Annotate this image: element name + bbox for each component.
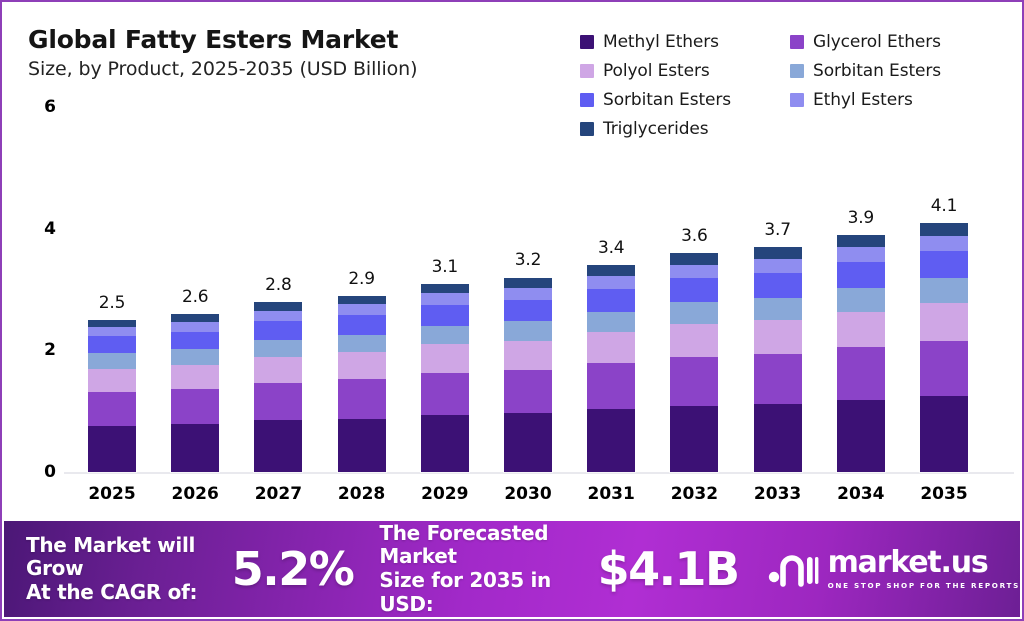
- bar-segment[interactable]: [171, 424, 219, 472]
- bar-group[interactable]: 2.62026: [171, 2, 219, 472]
- bar-segment[interactable]: [837, 235, 885, 247]
- bar-segment[interactable]: [754, 259, 802, 272]
- stacked-bar[interactable]: [754, 247, 802, 472]
- bar-segment[interactable]: [88, 336, 136, 353]
- bar-segment[interactable]: [421, 293, 469, 305]
- bar-segment[interactable]: [837, 347, 885, 400]
- bar-segment[interactable]: [421, 415, 469, 472]
- y-axis-tick-label: 2: [24, 340, 56, 360]
- stacked-bar[interactable]: [670, 253, 718, 472]
- bar-segment[interactable]: [254, 357, 302, 383]
- bar-segment[interactable]: [837, 288, 885, 312]
- y-axis-tick-label: 4: [24, 219, 56, 239]
- bar-container: 2.520252.620262.820272.920283.120293.220…: [88, 2, 1024, 522]
- bar-segment[interactable]: [587, 332, 635, 363]
- bar-group[interactable]: 2.52025: [88, 2, 136, 472]
- chart-plot-area: 0246 2.520252.620262.820272.920283.12029…: [2, 2, 1024, 522]
- bar-segment[interactable]: [421, 284, 469, 294]
- bar-segment[interactable]: [504, 370, 552, 413]
- forecast-caption-line2: Size for 2035 in USD:: [379, 569, 593, 616]
- stacked-bar[interactable]: [837, 235, 885, 472]
- cagr-caption-line2: At the CAGR of:: [26, 581, 226, 605]
- x-axis-tick-label: 2035: [904, 484, 984, 504]
- bar-group[interactable]: 2.82027: [254, 2, 302, 472]
- bar-segment[interactable]: [338, 352, 386, 379]
- bar-segment[interactable]: [754, 247, 802, 259]
- bar-segment[interactable]: [338, 296, 386, 305]
- bar-segment[interactable]: [504, 300, 552, 321]
- bar-segment[interactable]: [920, 251, 968, 278]
- y-axis-tick-label: 6: [24, 97, 56, 117]
- market-us-logo: market.us ONE STOP SHOP FOR THE REPORTS: [767, 548, 1020, 590]
- bar-segment[interactable]: [754, 354, 802, 404]
- cagr-value: 5.2%: [232, 542, 354, 596]
- bar-value-label: 3.1: [405, 257, 485, 277]
- bar-value-label: 3.7: [738, 220, 818, 240]
- bar-segment[interactable]: [837, 312, 885, 348]
- bar-value-label: 3.4: [571, 238, 651, 258]
- bar-segment[interactable]: [587, 312, 635, 333]
- bar-value-label: 2.8: [238, 275, 318, 295]
- bar-group[interactable]: 3.62032: [670, 2, 718, 472]
- bar-segment[interactable]: [504, 288, 552, 300]
- bar-segment[interactable]: [504, 278, 552, 289]
- x-axis-tick-label: 2027: [238, 484, 318, 504]
- y-axis-tick-label: 0: [24, 462, 56, 482]
- bar-segment[interactable]: [421, 326, 469, 345]
- bar-segment[interactable]: [338, 419, 386, 473]
- bar-segment[interactable]: [587, 265, 635, 276]
- forecast-value: $4.1B: [598, 542, 739, 596]
- forecast-caption-line1: The Forecasted Market: [379, 522, 593, 569]
- bar-segment[interactable]: [504, 341, 552, 370]
- bar-segment[interactable]: [920, 223, 968, 236]
- bar-value-label: 2.9: [322, 269, 402, 289]
- bar-group[interactable]: 3.72033: [754, 2, 802, 472]
- bar-segment[interactable]: [920, 396, 968, 472]
- bar-segment[interactable]: [754, 298, 802, 320]
- x-axis-tick-label: 2033: [738, 484, 818, 504]
- market-us-logo-text: market.us ONE STOP SHOP FOR THE REPORTS: [828, 548, 1020, 590]
- stacked-bar[interactable]: [338, 296, 386, 472]
- bar-segment[interactable]: [338, 335, 386, 353]
- bar-segment[interactable]: [254, 383, 302, 421]
- bar-segment[interactable]: [254, 311, 302, 321]
- bar-segment[interactable]: [88, 369, 136, 392]
- bar-segment[interactable]: [587, 289, 635, 311]
- bar-segment[interactable]: [670, 265, 718, 278]
- bar-segment[interactable]: [171, 389, 219, 424]
- infographic-frame: Global Fatty Esters Market Size, by Prod…: [0, 0, 1024, 621]
- bar-segment[interactable]: [670, 357, 718, 406]
- bar-segment[interactable]: [421, 344, 469, 373]
- stacked-bar[interactable]: [171, 314, 219, 472]
- bar-segment[interactable]: [88, 353, 136, 368]
- bar-segment[interactable]: [837, 247, 885, 262]
- bar-group[interactable]: 4.12035: [920, 2, 968, 472]
- bar-segment[interactable]: [670, 324, 718, 357]
- bar-segment[interactable]: [338, 304, 386, 315]
- bar-segment[interactable]: [171, 314, 219, 322]
- stacked-bar[interactable]: [421, 284, 469, 472]
- bar-segment[interactable]: [670, 253, 718, 265]
- bar-value-label: 3.6: [654, 226, 734, 246]
- bar-segment[interactable]: [88, 426, 136, 472]
- bar-segment[interactable]: [88, 392, 136, 426]
- bar-segment[interactable]: [754, 404, 802, 472]
- bar-segment[interactable]: [837, 262, 885, 288]
- bar-segment[interactable]: [338, 315, 386, 334]
- forecast-caption: The Forecasted Market Size for 2035 in U…: [379, 522, 593, 616]
- bar-segment[interactable]: [254, 340, 302, 357]
- bottom-banner: The Market will Grow At the CAGR of: 5.2…: [4, 521, 1020, 617]
- bar-segment[interactable]: [88, 327, 136, 336]
- bar-segment[interactable]: [920, 341, 968, 396]
- bar-segment[interactable]: [587, 409, 635, 472]
- bar-value-label: 3.9: [821, 208, 901, 228]
- x-axis-tick-label: 2034: [821, 484, 901, 504]
- bar-value-label: 2.5: [72, 293, 152, 313]
- bar-value-label: 3.2: [488, 250, 568, 270]
- x-axis-tick-label: 2031: [571, 484, 651, 504]
- bar-segment[interactable]: [670, 278, 718, 302]
- bar-segment[interactable]: [504, 321, 552, 340]
- bar-segment[interactable]: [171, 349, 219, 365]
- bar-segment[interactable]: [670, 406, 718, 472]
- logo-wordmark: market.us: [828, 548, 1020, 578]
- x-axis-tick-label: 2030: [488, 484, 568, 504]
- bar-group[interactable]: 3.22030: [504, 2, 552, 472]
- x-axis-tick-label: 2026: [155, 484, 235, 504]
- bar-segment[interactable]: [754, 320, 802, 354]
- bar-segment[interactable]: [171, 322, 219, 332]
- stacked-bar[interactable]: [587, 265, 635, 472]
- bar-group[interactable]: 3.42031: [587, 2, 635, 472]
- bar-segment[interactable]: [920, 303, 968, 341]
- x-axis-tick-label: 2028: [322, 484, 402, 504]
- x-axis-tick-label: 2025: [72, 484, 152, 504]
- stacked-bar[interactable]: [254, 302, 302, 472]
- bar-segment[interactable]: [254, 420, 302, 472]
- bar-segment[interactable]: [920, 236, 968, 251]
- bar-segment[interactable]: [171, 365, 219, 389]
- bar-segment[interactable]: [587, 276, 635, 289]
- bar-group[interactable]: 3.12029: [421, 2, 469, 472]
- bar-group[interactable]: 3.92034: [837, 2, 885, 472]
- stacked-bar[interactable]: [504, 277, 552, 472]
- bar-segment[interactable]: [754, 273, 802, 298]
- bar-segment[interactable]: [338, 379, 386, 419]
- bar-segment[interactable]: [171, 332, 219, 350]
- logo-tagline: ONE STOP SHOP FOR THE REPORTS: [828, 581, 1020, 590]
- bar-segment[interactable]: [421, 373, 469, 415]
- bar-segment[interactable]: [254, 321, 302, 340]
- bar-segment[interactable]: [587, 363, 635, 409]
- x-axis-tick-label: 2032: [654, 484, 734, 504]
- cagr-caption-line1: The Market will Grow: [26, 534, 226, 581]
- bar-segment[interactable]: [670, 302, 718, 324]
- bar-segment[interactable]: [421, 305, 469, 326]
- stacked-bar[interactable]: [920, 223, 968, 472]
- cagr-caption: The Market will Grow At the CAGR of:: [26, 534, 226, 605]
- bar-segment[interactable]: [504, 413, 552, 472]
- x-axis-tick-label: 2029: [405, 484, 485, 504]
- bar-segment[interactable]: [88, 320, 136, 327]
- bar-group[interactable]: 2.92028: [338, 2, 386, 472]
- bar-segment[interactable]: [254, 302, 302, 311]
- stacked-bar[interactable]: [88, 320, 136, 472]
- bar-segment[interactable]: [920, 278, 968, 303]
- market-us-logo-icon: [767, 550, 819, 588]
- bar-value-label: 4.1: [904, 196, 984, 216]
- bar-value-label: 2.6: [155, 287, 235, 307]
- bar-segment[interactable]: [837, 400, 885, 472]
